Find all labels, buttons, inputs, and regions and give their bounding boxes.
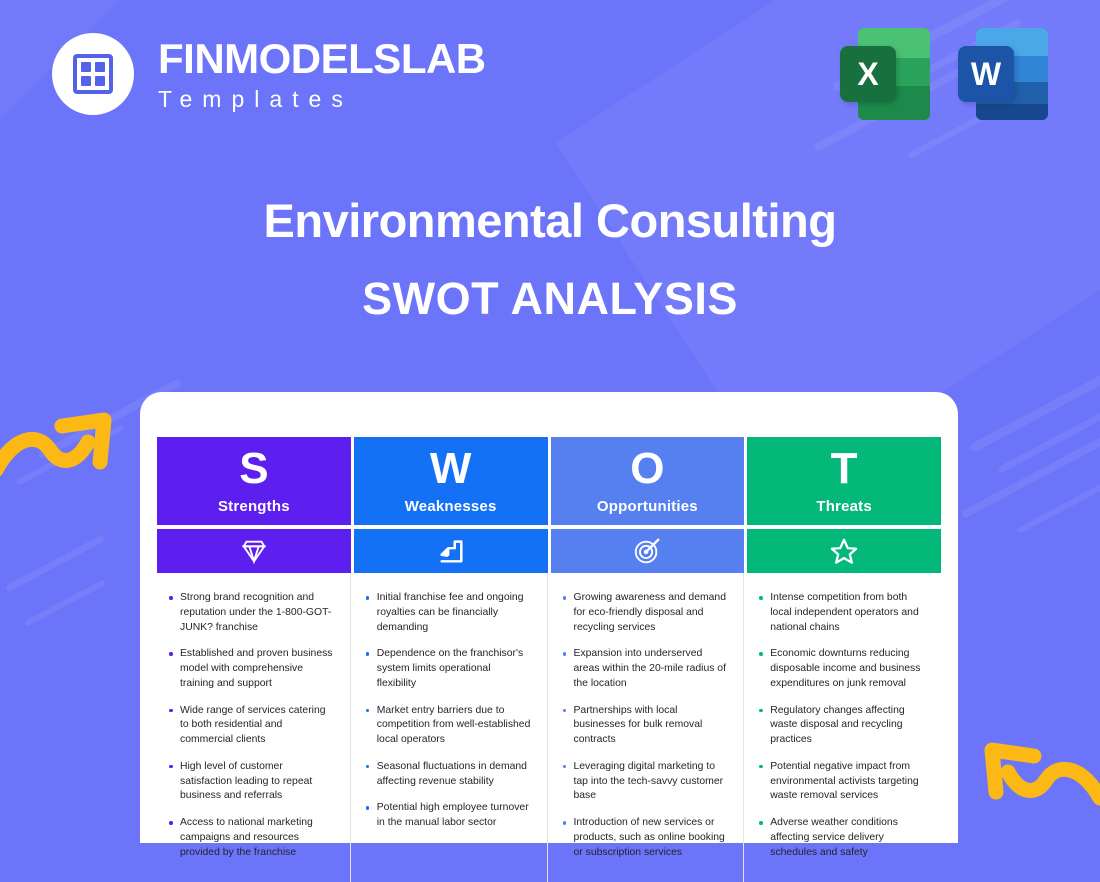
swot-letter: S xyxy=(239,447,268,491)
page-title: Environmental Consulting xyxy=(0,195,1100,248)
excel-icon[interactable]: X xyxy=(840,28,930,120)
swot-label: Threats xyxy=(816,498,872,515)
title-block: Environmental Consulting SWOT ANALYSIS xyxy=(0,195,1100,323)
swot-header-strengths[interactable]: S Strengths xyxy=(157,437,351,525)
office-format-icons: X W xyxy=(840,28,1048,120)
list-item: Economic downturns reducing disposable i… xyxy=(757,647,927,691)
swot-header-row: S Strengths W Weaknesses O Opportunities… xyxy=(157,437,941,525)
word-icon[interactable]: W xyxy=(958,28,1048,120)
swot-label: Weaknesses xyxy=(405,498,497,515)
excel-icon-letter: X xyxy=(840,46,896,102)
brand-logo[interactable]: FINMODELSLAB Templates xyxy=(52,33,486,115)
swot-header-opportunities[interactable]: O Opportunities xyxy=(551,437,745,525)
list-item: Potential negative impact from environme… xyxy=(757,760,927,804)
list-item: Access to national marketing campaigns a… xyxy=(167,816,336,860)
swot-icon-row xyxy=(157,525,941,573)
swot-letter: W xyxy=(430,447,472,491)
swot-list-weaknesses: Initial franchise fee and ongoing royalt… xyxy=(354,573,548,882)
swot-letter: O xyxy=(630,447,664,491)
swot-list-threats: Intense competition from both local inde… xyxy=(747,573,941,882)
word-icon-letter: W xyxy=(958,46,1014,102)
page-header: FINMODELSLAB Templates X W xyxy=(0,0,1100,160)
list-item: Potential high employee turnover in the … xyxy=(364,801,533,831)
swot-letter: T xyxy=(831,447,858,491)
list-item: Established and proven business model wi… xyxy=(167,647,336,691)
list-item: Seasonal fluctuations in demand affectin… xyxy=(364,760,533,790)
squiggle-arrow-up-right-icon xyxy=(0,398,122,489)
swot-card: S Strengths W Weaknesses O Opportunities… xyxy=(140,392,958,843)
page-subtitle: SWOT ANALYSIS xyxy=(0,274,1100,324)
list-item: Wide range of services catering to both … xyxy=(167,704,336,748)
swot-label: Strengths xyxy=(218,498,290,515)
target-icon xyxy=(551,529,745,573)
swot-header-threats[interactable]: T Threats xyxy=(747,437,941,525)
grid-logo-icon xyxy=(52,33,134,115)
swot-content-row: Strong brand recognition and reputation … xyxy=(157,573,941,882)
list-item: Leveraging digital marketing to tap into… xyxy=(561,760,730,804)
list-item: Dependence on the franchisor's system li… xyxy=(364,647,533,691)
swot-list-opportunities: Growing awareness and demand for eco-fri… xyxy=(551,573,745,882)
list-item: Expansion into underserved areas within … xyxy=(561,647,730,691)
list-item: Strong brand recognition and reputation … xyxy=(167,591,336,635)
swot-list-strengths: Strong brand recognition and reputation … xyxy=(157,573,351,882)
swot-header-weaknesses[interactable]: W Weaknesses xyxy=(354,437,548,525)
brand-subtitle: Templates xyxy=(158,88,486,111)
descending-stairs-icon xyxy=(354,529,548,573)
swot-label: Opportunities xyxy=(597,498,698,515)
diamond-icon xyxy=(157,529,351,573)
list-item: Partnerships with local businesses for b… xyxy=(561,704,730,748)
list-item: Intense competition from both local inde… xyxy=(757,591,927,635)
list-item: Introduction of new services or products… xyxy=(561,816,730,860)
list-item: Initial franchise fee and ongoing royalt… xyxy=(364,591,533,635)
list-item: Market entry barriers due to competition… xyxy=(364,704,533,748)
list-item: Regulatory changes affecting waste dispo… xyxy=(757,704,927,748)
star-outline-icon xyxy=(747,529,941,573)
brand-title: FINMODELSLAB xyxy=(158,38,486,80)
squiggle-arrow-down-left-icon xyxy=(974,736,1100,831)
list-item: High level of customer satisfaction lead… xyxy=(167,760,336,804)
list-item: Growing awareness and demand for eco-fri… xyxy=(561,591,730,635)
list-item: Adverse weather conditions affecting ser… xyxy=(757,816,927,860)
